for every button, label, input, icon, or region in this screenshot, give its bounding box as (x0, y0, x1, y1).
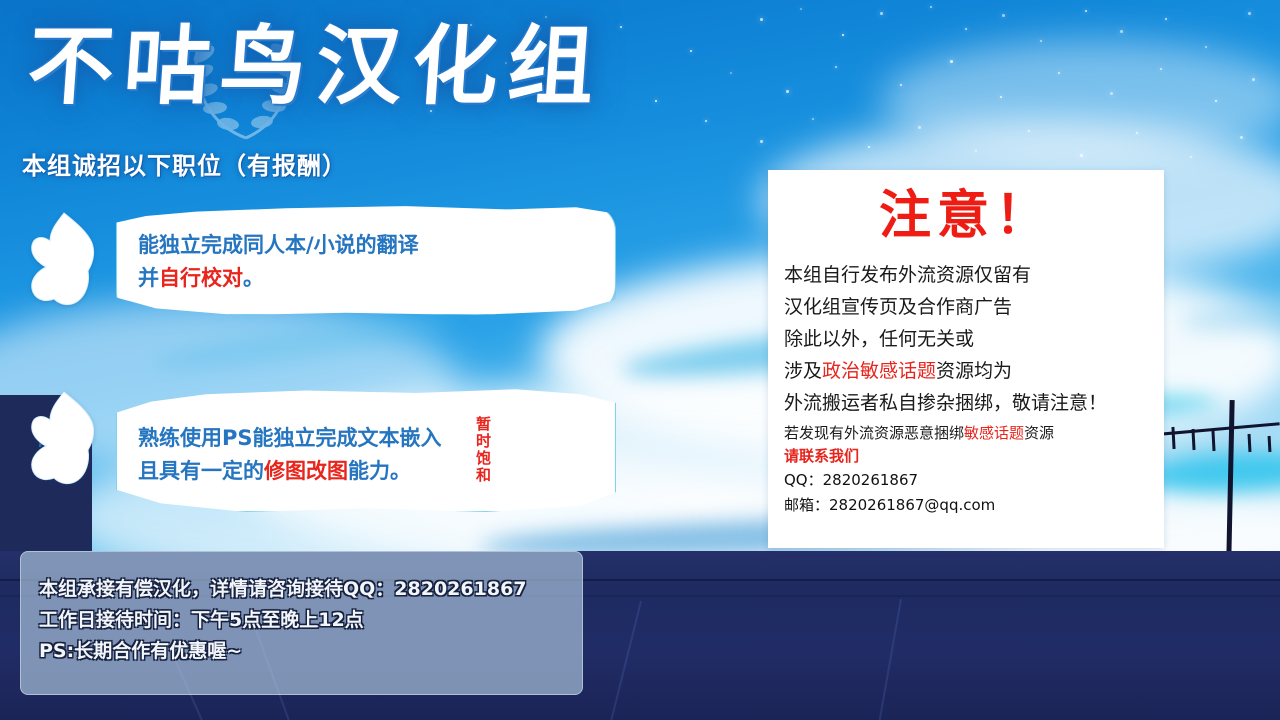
sparkle-dot (800, 8, 802, 10)
bottom-line-2: 工作日接待时间：下午5点至晚上12点 (39, 605, 582, 636)
notice-body: 本组自行发布外流资源仅留有 汉化组宣传页及合作商广告 除此以外，任何无关或 涉及… (784, 259, 1148, 419)
role-description: 能独立完成同人本/小说的翻译 并自行校对。 (138, 229, 419, 295)
sparkle-dot (1028, 130, 1030, 132)
bottom-line-3: PS:长期合作有优惠喔~ (39, 636, 582, 667)
sparkle-dot (1160, 68, 1162, 70)
sparkle-dot (835, 66, 837, 68)
notice-panel: 注意！ 本组自行发布外流资源仅留有 汉化组宣传页及合作商广告 除此以外，任何无关… (768, 170, 1164, 548)
sparkle-dot (930, 6, 932, 8)
sparkle-dot (868, 146, 870, 148)
sparkle-dot (975, 150, 977, 152)
dove-icon (20, 388, 116, 488)
bottom-line-1: 本组承接有偿汉化，详情请咨询接待QQ：2820261867 (39, 574, 582, 605)
sparkle-dot (1110, 92, 1113, 95)
cloud-shape (880, 40, 1280, 160)
sparkle-dot (1165, 18, 1167, 20)
notice-subnote: 若发现有外流资源恶意捆绑敏感话题资源 请联系我们 (784, 422, 1148, 468)
contact-block: QQ：2820261867 邮箱：2820261867@qq.com (784, 468, 1148, 518)
sparkle-dot (1215, 100, 1217, 102)
sparkle-dot (786, 90, 789, 93)
sparkle-dot (1085, 10, 1087, 12)
sparkle-dot (1252, 78, 1255, 81)
dove-icon (20, 209, 116, 309)
sparkle-dot (812, 118, 814, 120)
sparkle-dot (880, 12, 883, 15)
sparkle-dot (900, 84, 902, 86)
tv-antenna-icon (1196, 400, 1280, 560)
role-card-translator: 翻译 能独立完成同人本/小说的翻译 并自行校对。 (20, 205, 620, 325)
sparkle-dot (842, 34, 844, 36)
poster-stage: 不咕鸟汉化组 本组诚招以下职位（有报酬） 翻译 能独立完成同人本/小说的翻译 并… (0, 0, 1280, 720)
notice-title: 注意！ (784, 188, 1148, 245)
sparkle-dot (1002, 14, 1005, 17)
sparkle-dot (1205, 46, 1207, 48)
page-title: 不咕鸟汉化组 (25, 22, 607, 112)
role-description: 熟练使用PS能独立完成文本嵌入 且具有一定的修图改图能力。 (138, 422, 442, 488)
sparkle-dot (1058, 72, 1060, 74)
sparkle-dot (1040, 40, 1042, 42)
sparkle-dot (1248, 12, 1251, 15)
sparkle-dot (1120, 30, 1123, 33)
sparkle-dot (1136, 132, 1138, 134)
sparkle-dot (965, 28, 967, 30)
qq-line: QQ：2820261867 (784, 468, 1148, 493)
sparkle-dot (918, 126, 921, 129)
role-card-typesetter: 嵌字 熟练使用PS能独立完成文本嵌入 且具有一定的修图改图能力。 暂时饱和 (20, 388, 620, 518)
page-subtitle: 本组诚招以下职位（有报酬） (22, 146, 347, 181)
email-line: 邮箱：2820261867@qq.com (784, 493, 1148, 518)
contact-us-line: 请联系我们 (784, 445, 1148, 468)
sparkle-dot (950, 60, 953, 63)
sparkle-dot (1000, 96, 1002, 98)
sparkle-dot (1190, 156, 1192, 158)
role-status-note: 暂时饱和 (475, 416, 490, 484)
header-title-block: 不咕鸟汉化组 (18, 8, 758, 138)
sparkle-dot (1240, 136, 1243, 139)
bottom-info-banner: 本组承接有偿汉化，详情请咨询接待QQ：2820261867 工作日接待时间：下午… (20, 551, 583, 695)
sparkle-dot (760, 140, 763, 143)
sparkle-dot (1080, 154, 1083, 157)
sparkle-dot (760, 18, 763, 21)
